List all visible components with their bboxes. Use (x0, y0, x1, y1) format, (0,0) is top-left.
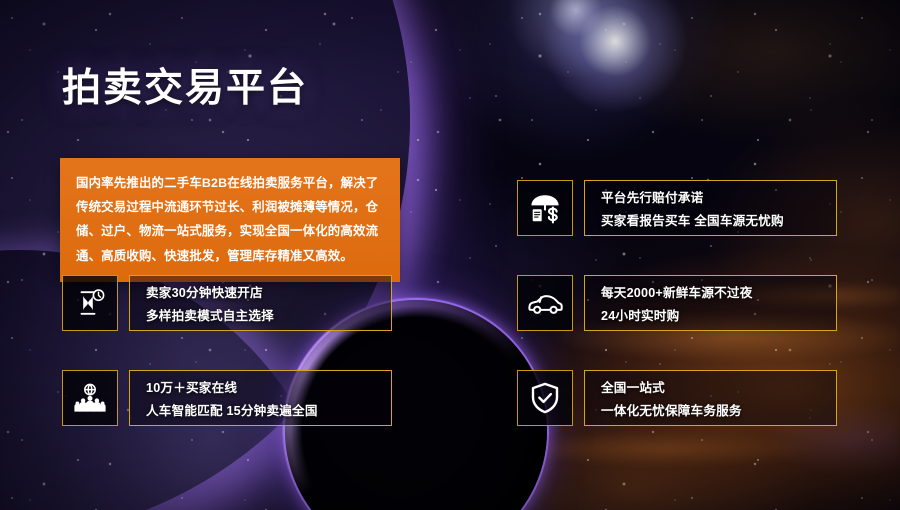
card-line-2: 24小时实时购 (601, 305, 836, 324)
feature-card-one-stop[interactable]: 全国一站式 一体化无忧保障车务服务 (517, 370, 837, 426)
feature-card-one-stop-text: 全国一站式 一体化无忧保障车务服务 (584, 370, 837, 426)
feature-card-buyers-text: 10万＋买家在线 人车智能匹配 15分钟卖遍全国 (129, 370, 392, 426)
feature-card-fresh-stock[interactable]: 每天2000+新鲜车源不过夜 24小时实时购 (517, 275, 837, 331)
car-icon (517, 275, 573, 331)
feature-card-buyers[interactable]: 10万＋买家在线 人车智能匹配 15分钟卖遍全国 (62, 370, 392, 426)
shield-check-icon (517, 370, 573, 426)
feature-card-fresh-stock-text: 每天2000+新鲜车源不过夜 24小时实时购 (584, 275, 837, 331)
umbrella-document-dollar-icon (517, 180, 573, 236)
feature-card-seller-text: 卖家30分钟快速开店 多样拍卖模式自主选择 (129, 275, 392, 331)
card-line-1: 平台先行赔付承诺 (601, 187, 836, 206)
feature-card-guarantee-text: 平台先行赔付承诺 买家看报告买车 全国车源无忧购 (584, 180, 837, 236)
card-line-2: 人车智能匹配 15分钟卖遍全国 (146, 400, 391, 419)
feature-card-seller[interactable]: 卖家30分钟快速开店 多样拍卖模式自主选择 (62, 275, 392, 331)
card-line-1: 每天2000+新鲜车源不过夜 (601, 282, 836, 301)
card-line-2: 一体化无忧保障车务服务 (601, 400, 836, 419)
intro-description-box: 国内率先推出的二手车B2B在线拍卖服务平台，解决了传统交易过程中流通环节过长、利… (60, 158, 400, 282)
hourglass-clock-icon (62, 275, 118, 331)
feature-card-guarantee[interactable]: 平台先行赔付承诺 买家看报告买车 全国车源无忧购 (517, 180, 837, 236)
globe-people-icon (62, 370, 118, 426)
card-line-2: 买家看报告买车 全国车源无忧购 (601, 210, 836, 229)
card-line-1: 卖家30分钟快速开店 (146, 282, 391, 301)
card-line-2: 多样拍卖模式自主选择 (146, 305, 391, 324)
card-line-1: 全国一站式 (601, 377, 836, 396)
card-line-1: 10万＋买家在线 (146, 377, 391, 396)
page-title: 拍卖交易平台 (62, 57, 308, 113)
